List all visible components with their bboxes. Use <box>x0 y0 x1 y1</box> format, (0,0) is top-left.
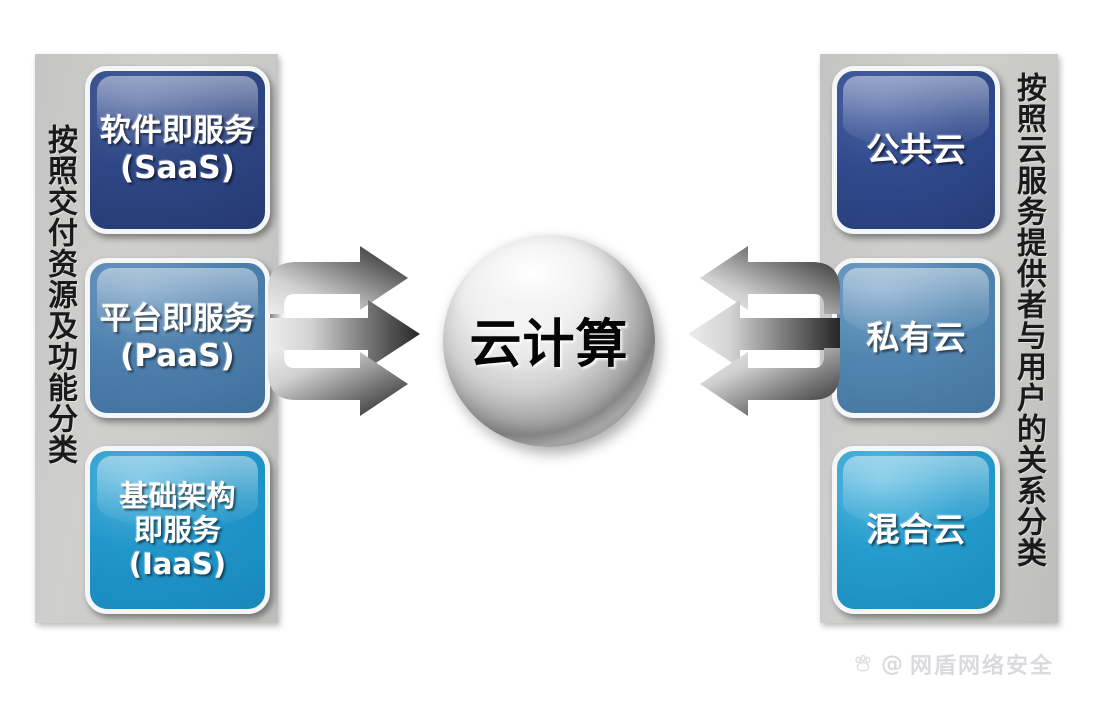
right-arrow-group <box>660 246 840 422</box>
left-arrow-iaas <box>268 348 408 416</box>
center-cloud-computing-sphere[interactable]: 云计算 <box>443 235 655 447</box>
service-box-saas-label: 软件即服务 (SaaS) <box>94 113 261 186</box>
right-arrow-hybrid-cloud <box>700 348 840 416</box>
service-box-paas[interactable]: 平台即服务 (PaaS) <box>85 258 270 418</box>
center-sphere-label: 云计算 <box>469 302 628 377</box>
service-box-paas-label: 平台即服务 (PaaS) <box>94 301 261 374</box>
deployment-box-private-cloud-label: 私有云 <box>861 319 972 358</box>
deployment-box-public-cloud[interactable]: 公共云 <box>832 66 1000 234</box>
right-arrow-private-cloud <box>688 300 840 368</box>
paw-icon <box>852 653 874 675</box>
service-box-iaas-label: 基础架构 即服务 (IaaS) <box>113 479 241 582</box>
diagram-canvas: 按照交付资源及功能分类 软件即服务 (SaaS) 平台即服务 (PaaS) 基础… <box>0 0 1108 704</box>
left-arrow-group <box>268 246 448 422</box>
left-category-label: 按照交付资源及功能分类 <box>44 124 74 465</box>
left-arrow-saas <box>268 246 408 314</box>
deployment-box-hybrid-cloud[interactable]: 混合云 <box>832 446 1000 614</box>
deployment-box-private-cloud[interactable]: 私有云 <box>832 258 1000 418</box>
deployment-box-public-cloud-label: 公共云 <box>861 131 972 170</box>
watermark-at-symbol: @ <box>881 652 903 677</box>
deployment-box-hybrid-cloud-label: 混合云 <box>861 511 972 550</box>
service-box-iaas[interactable]: 基础架构 即服务 (IaaS) <box>85 446 270 614</box>
left-arrow-paas <box>268 300 420 368</box>
right-category-label: 按照云服务提供者与用户的关系分类 <box>1013 72 1043 568</box>
watermark-text: 网盾网络安全 <box>910 648 1054 680</box>
watermark: @ 网盾网络安全 <box>852 648 1054 680</box>
right-arrow-public-cloud <box>700 246 840 314</box>
service-box-saas[interactable]: 软件即服务 (SaaS) <box>85 66 270 234</box>
